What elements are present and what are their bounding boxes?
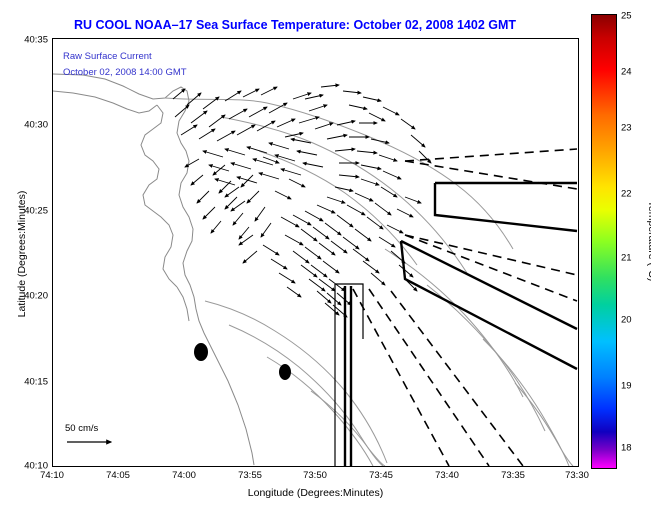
x-tick-8: 73:30: [565, 470, 589, 481]
colorbar-label: Temperature (°C): [646, 141, 651, 341]
colorbar-tick-6: 19: [621, 381, 632, 392]
y-tick-1: 40:30: [24, 120, 48, 131]
colorbar-tick-7: 18: [621, 443, 632, 454]
annotation-raw-surface-current: Raw Surface Current: [63, 51, 152, 62]
sst-map-figure: RU COOL NOAA–17 Sea Surface Temperature:…: [0, 0, 651, 518]
colorbar-tick-5: 20: [621, 315, 632, 326]
map-graphics: [53, 39, 578, 466]
x-tick-6: 73:40: [435, 470, 459, 481]
x-tick-5: 73:45: [369, 470, 393, 481]
x-tick-4: 73:50: [303, 470, 327, 481]
colorbar-tick-0: 25: [621, 11, 632, 22]
x-axis-label: Longitude (Degrees:Minutes): [52, 487, 579, 499]
x-tick-3: 73:55: [238, 470, 262, 481]
colorbar-tick-1: 24: [621, 67, 632, 78]
y-tick-4: 40:15: [24, 377, 48, 388]
y-tick-5: 40:10: [24, 461, 48, 472]
annotation-datetime: October 02, 2008 14:00 GMT: [63, 67, 187, 78]
x-tick-1: 74:05: [106, 470, 130, 481]
station-marker-2: [279, 364, 291, 380]
station-marker-1: [194, 343, 208, 361]
colorbar-gradient: [592, 15, 616, 468]
map-plot-area[interactable]: Raw Surface Current October 02, 2008 14:…: [52, 38, 579, 467]
x-tick-7: 73:35: [501, 470, 525, 481]
colorbar: [591, 14, 617, 469]
colorbar-tick-3: 22: [621, 189, 632, 200]
colorbar-tick-4: 21: [621, 253, 632, 264]
colorbar-tick-2: 23: [621, 123, 632, 134]
y-tick-0: 40:35: [24, 35, 48, 46]
figure-title: RU COOL NOAA–17 Sea Surface Temperature:…: [0, 18, 590, 32]
scale-bar-label: 50 cm/s: [65, 423, 98, 434]
x-tick-0: 74:10: [40, 470, 64, 481]
x-tick-2: 74:00: [172, 470, 196, 481]
y-axis-label: Latitude (Degrees:Minutes): [16, 144, 28, 364]
